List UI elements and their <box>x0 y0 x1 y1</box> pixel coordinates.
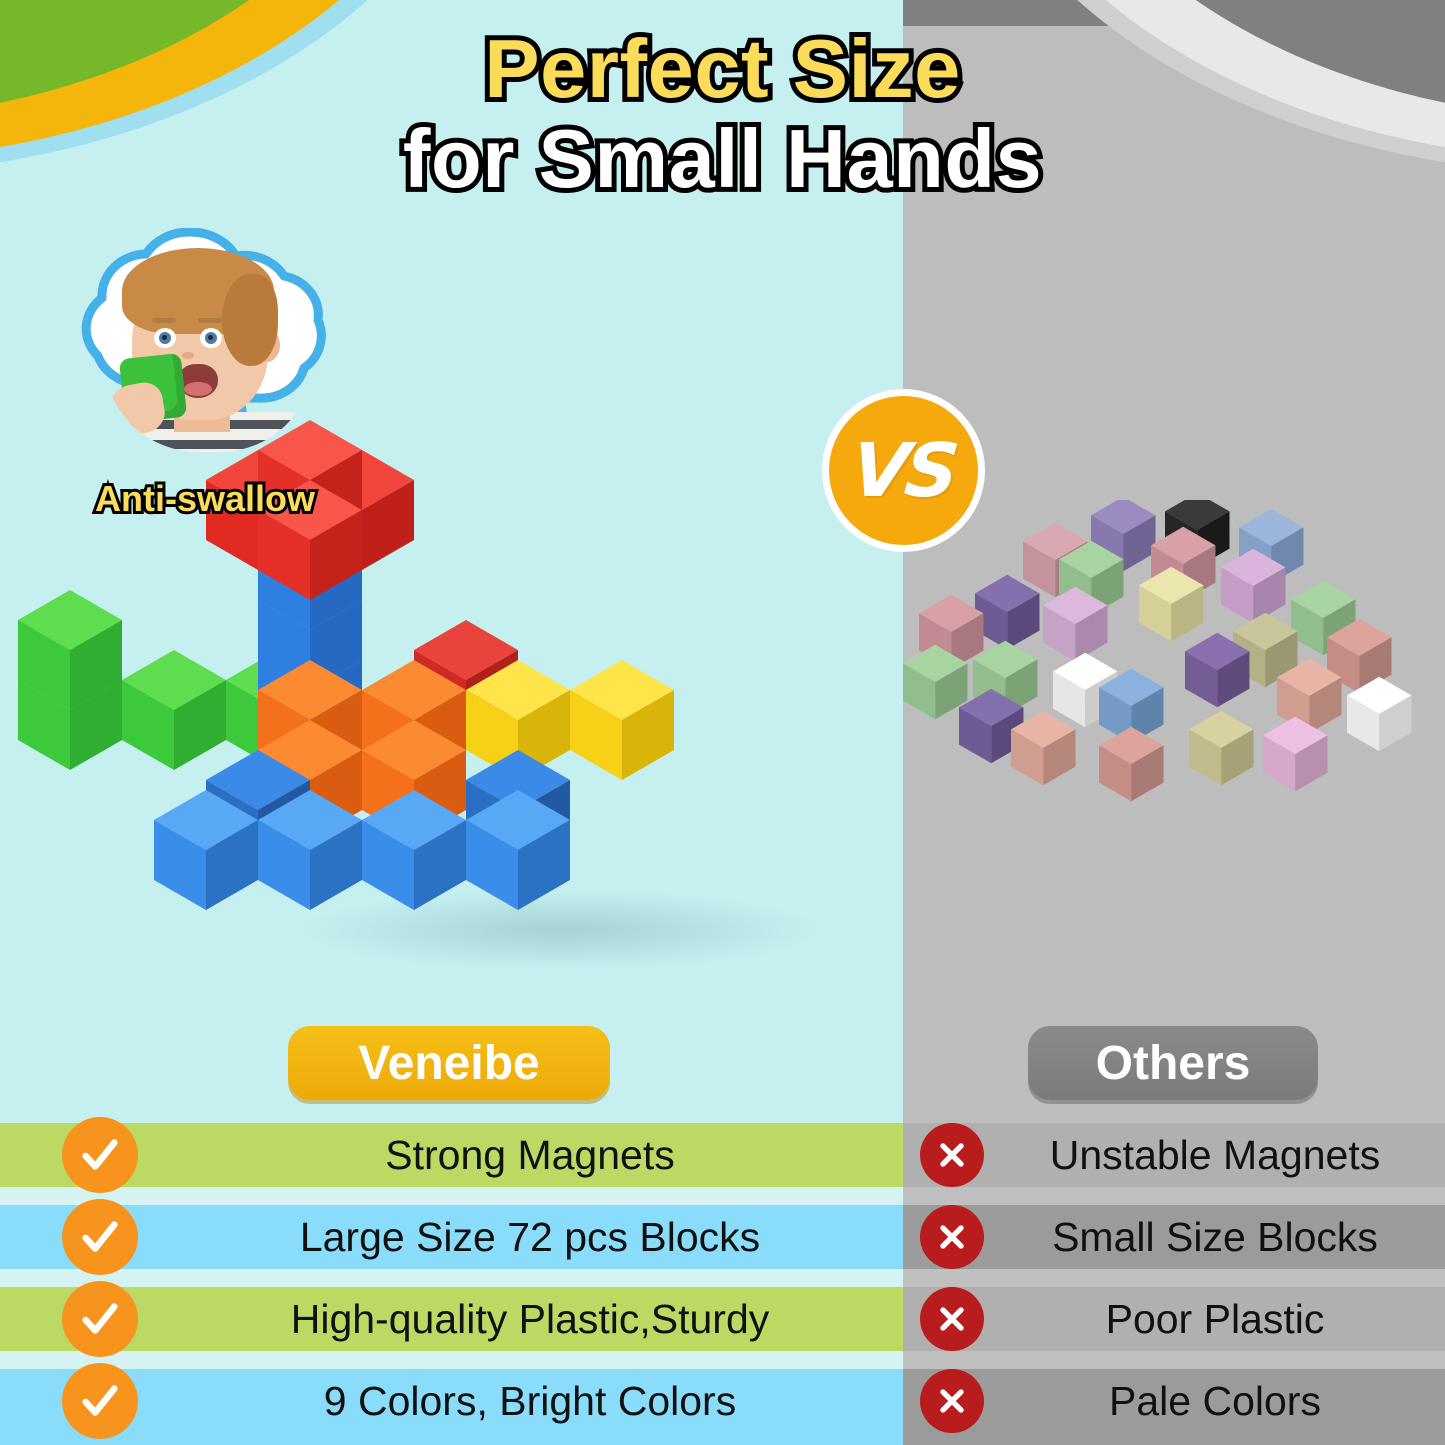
cross-icon <box>920 1205 984 1269</box>
check-icon <box>62 1281 138 1357</box>
baby-brow-right <box>198 318 222 323</box>
brand-pill-veneibe-label: Veneibe <box>358 1036 539 1091</box>
vs-circle: VS <box>829 396 978 545</box>
vs-badge: VS <box>822 389 985 552</box>
row-label-others: Pale Colors <box>1000 1369 1430 1433</box>
speech-bubble-baby <box>42 228 372 478</box>
row-label-ours: High-quality Plastic,Sturdy <box>160 1287 900 1351</box>
cross-icon <box>920 1369 984 1433</box>
blocks-pale-scene <box>903 500 1445 920</box>
brand-pill-others[interactable]: Others <box>1028 1026 1318 1100</box>
table-row: Strong Magnets Unstable Magnets <box>0 1123 1445 1187</box>
row-gap-ours <box>0 1269 903 1287</box>
cross-icon <box>920 1287 984 1351</box>
anti-swallow-label: Anti-swallow <box>70 478 340 520</box>
table-row: High-quality Plastic,Sturdy Poor Plastic <box>0 1287 1445 1351</box>
row-gap <box>0 1351 1445 1369</box>
row-label-ours: 9 Colors, Bright Colors <box>160 1369 900 1433</box>
infographic-root: Perfect Size for Small Hands <box>0 0 1445 1445</box>
row-gap-ours <box>0 1351 903 1369</box>
baby-photo <box>104 244 314 452</box>
row-label-others: Poor Plastic <box>1000 1287 1430 1351</box>
row-gap-others <box>903 1351 1445 1369</box>
row-gap-others <box>903 1187 1445 1205</box>
table-row: 9 Colors, Bright Colors Pale Colors <box>0 1369 1445 1445</box>
baby-nose <box>182 352 194 359</box>
cross-icon <box>920 1123 984 1187</box>
comparison-table: Strong Magnets Unstable Magnets Large Si… <box>0 1123 1445 1445</box>
row-gap-ours <box>0 1187 903 1205</box>
check-icon <box>62 1117 138 1193</box>
baby-brow-left <box>152 318 176 323</box>
row-label-ours: Large Size 72 pcs Blocks <box>160 1205 900 1269</box>
check-icon <box>62 1363 138 1439</box>
brand-pill-others-label: Others <box>1096 1036 1251 1091</box>
baby-eye-right <box>200 328 222 348</box>
row-gap <box>0 1269 1445 1287</box>
baby-eye-left <box>154 328 176 348</box>
pale-cube-pile <box>903 500 1445 920</box>
vs-label: VS <box>848 428 960 514</box>
baby-hair-side <box>222 274 278 366</box>
row-label-others: Small Size Blocks <box>1000 1205 1430 1269</box>
row-gap <box>0 1187 1445 1205</box>
row-label-ours: Strong Magnets <box>160 1123 900 1187</box>
table-row: Large Size 72 pcs Blocks Small Size Bloc… <box>0 1205 1445 1269</box>
row-label-others: Unstable Magnets <box>1000 1123 1430 1187</box>
brand-pill-veneibe[interactable]: Veneibe <box>288 1026 610 1100</box>
row-gap-others <box>903 1269 1445 1287</box>
check-icon <box>62 1199 138 1275</box>
